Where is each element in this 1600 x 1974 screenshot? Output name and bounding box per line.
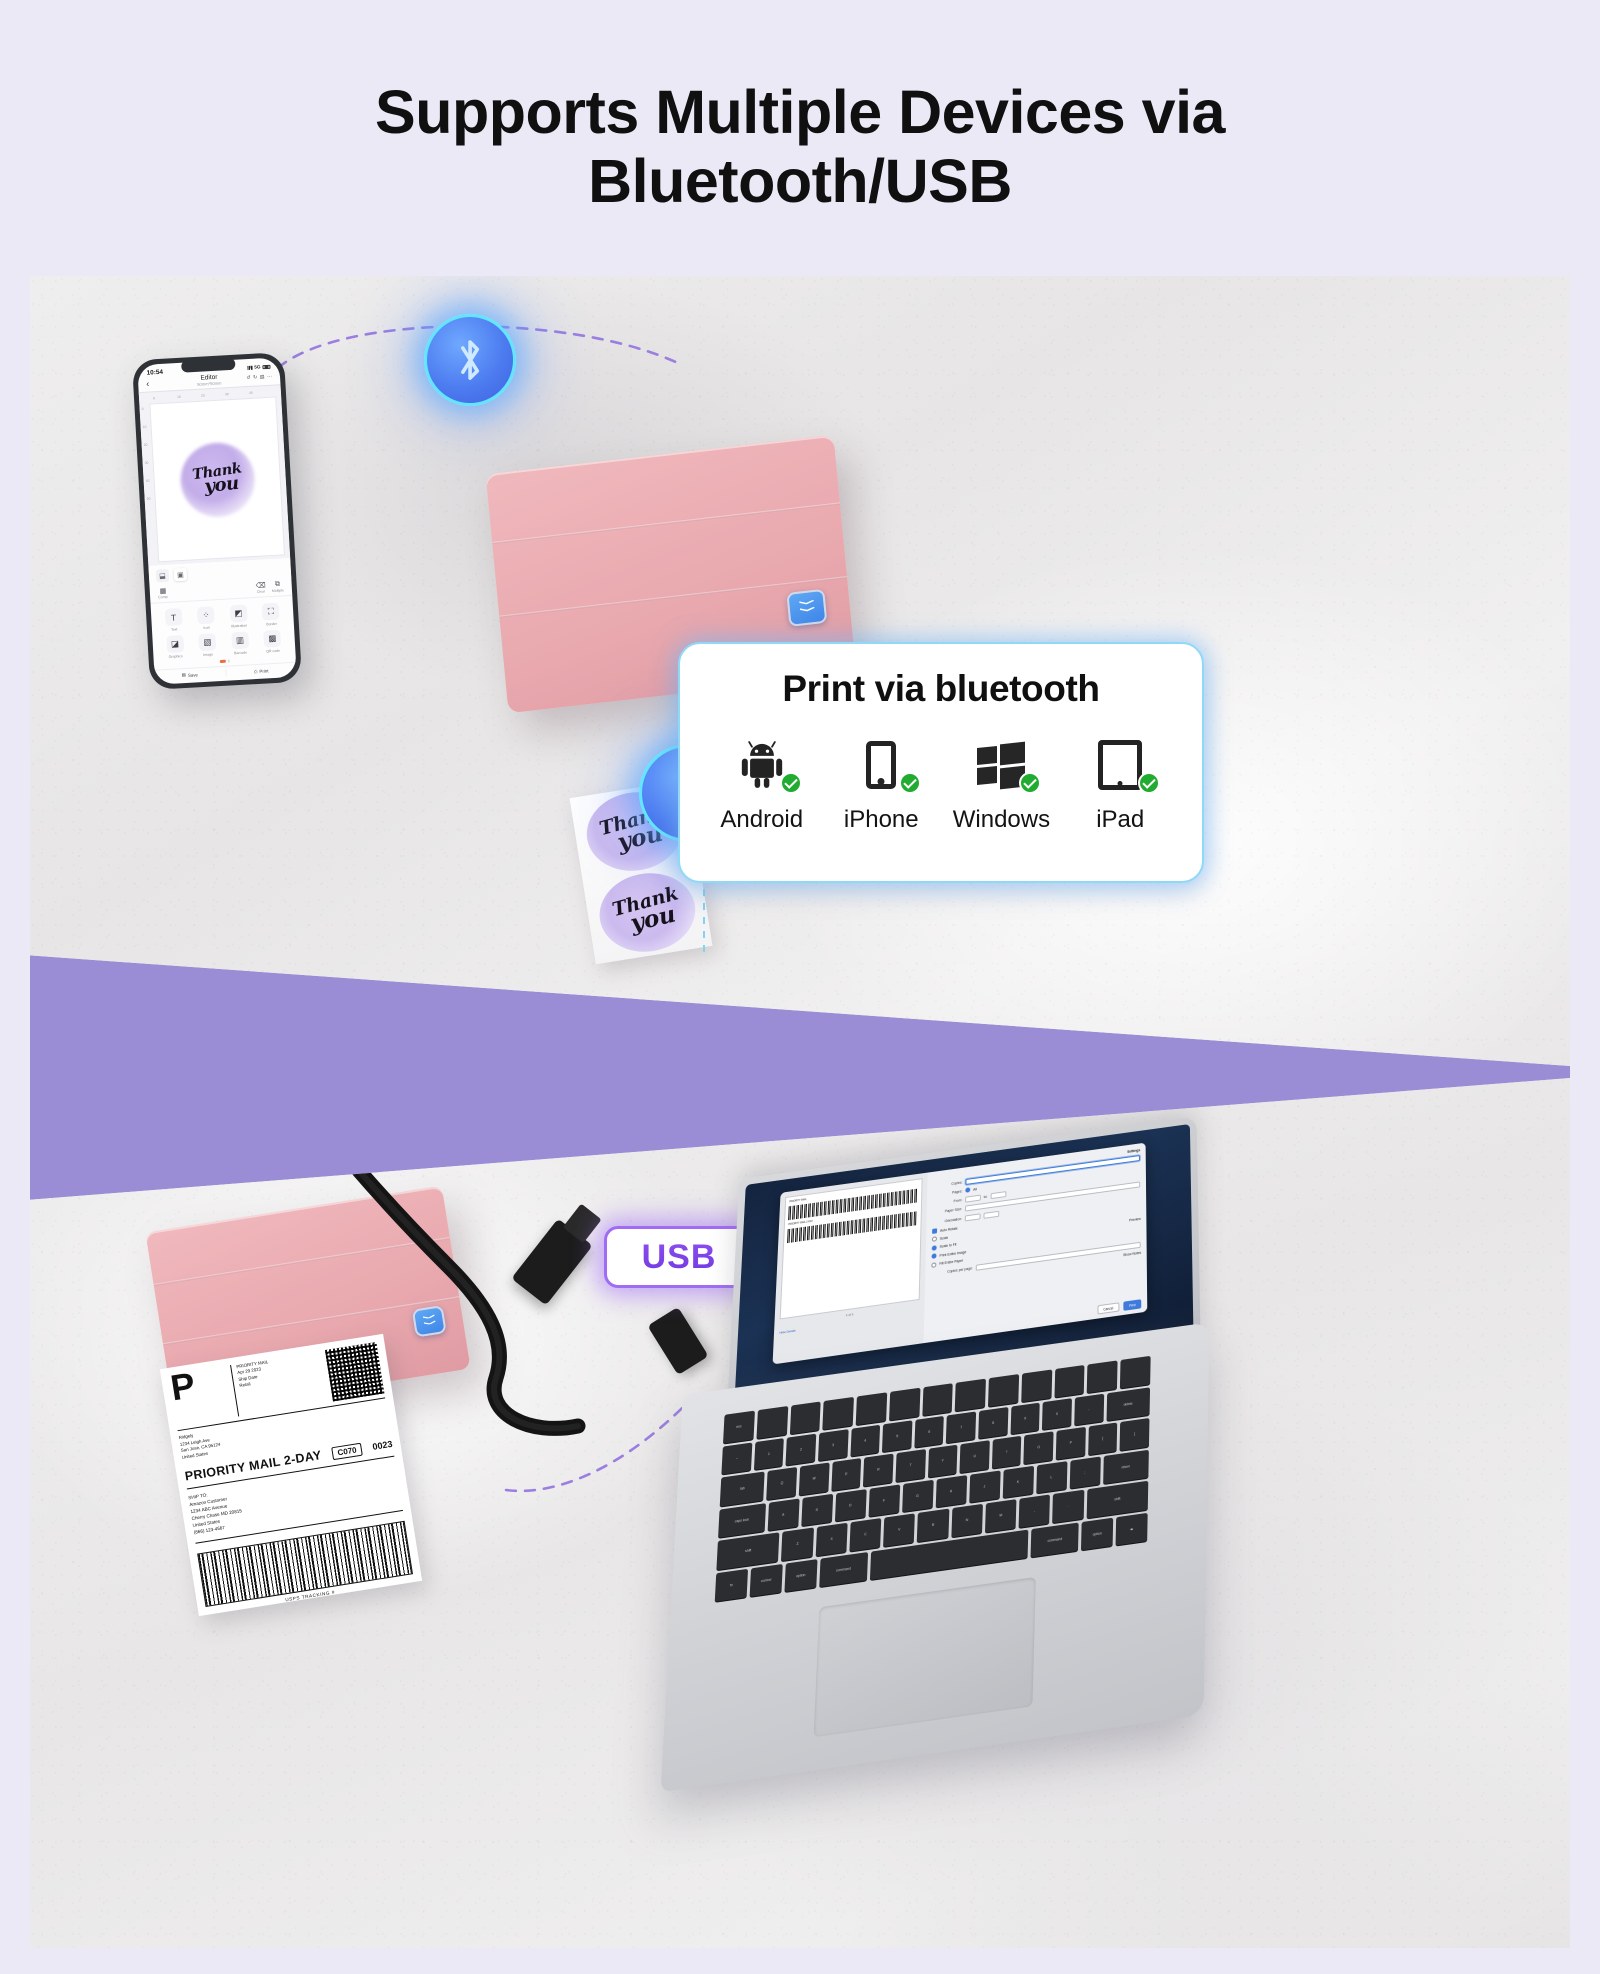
tool-border[interactable]: ⛶ Border: [255, 603, 287, 628]
pages-all-radio[interactable]: [965, 1188, 970, 1194]
key[interactable]: ]: [1120, 1418, 1150, 1450]
bluetooth-icon: [446, 336, 494, 384]
key[interactable]: 2: [786, 1433, 816, 1465]
bluetooth-scene-panel: 10:54 5G ‹ Editor 50mm*50mm ↺: [30, 276, 1570, 1066]
key[interactable]: V: [883, 1513, 915, 1546]
key-command[interactable]: command: [819, 1552, 868, 1588]
tool-text[interactable]: T Text: [158, 608, 190, 633]
copies-label: Copies:: [933, 1181, 962, 1189]
vruler-tick: 30: [145, 461, 149, 465]
from-label: From:: [933, 1198, 963, 1206]
key[interactable]: X: [815, 1523, 847, 1556]
orientation-landscape-button[interactable]: [983, 1210, 999, 1218]
key[interactable]: C: [849, 1518, 881, 1551]
device-label: iPhone: [833, 806, 929, 834]
vruler-tick: 20: [144, 443, 148, 447]
tool-illustration[interactable]: ◩ Illustration: [223, 604, 255, 629]
key[interactable]: [856, 1392, 887, 1424]
key[interactable]: [756, 1406, 788, 1438]
key[interactable]: ,: [1019, 1494, 1051, 1527]
clear-tool[interactable]: ⌫ Clear: [256, 582, 267, 595]
key[interactable]: 9: [1010, 1402, 1040, 1434]
show-notes-label: Show Notes: [1123, 1251, 1141, 1258]
preview-document: PRIORITY MAIL PRIORITY MAIL 2-DAY: [780, 1178, 923, 1319]
print-entire-image-radio[interactable]: [932, 1253, 937, 1259]
key[interactable]: F: [868, 1484, 900, 1517]
paper-size-label: Paper Size:: [933, 1207, 963, 1215]
key-option[interactable]: option: [784, 1559, 817, 1592]
key[interactable]: [922, 1383, 953, 1415]
supported-check-icon: [780, 772, 802, 794]
key-delete[interactable]: delete: [1106, 1387, 1150, 1421]
key[interactable]: W: [799, 1462, 829, 1495]
device-iphone: iPhone: [833, 736, 929, 834]
vruler-tick: 10: [143, 425, 147, 429]
key[interactable]: M: [985, 1499, 1017, 1532]
key[interactable]: Z: [781, 1527, 813, 1560]
multiple-label: Multiple: [272, 589, 284, 594]
laptop-keyboard[interactable]: esc ~1234567890-delete tabQWERTYUIOP[] c…: [715, 1356, 1151, 1602]
smartphone-device: 10:54 5G ‹ Editor 50mm*50mm ↺: [132, 352, 302, 690]
key[interactable]: K: [1002, 1465, 1033, 1498]
tool-label: Image: [193, 652, 224, 658]
key[interactable]: Y: [928, 1445, 958, 1477]
auto-rotate-label: Auto Rotate: [940, 1226, 958, 1232]
save-label: Save: [188, 672, 198, 678]
tool-image[interactable]: ▧ Image: [192, 633, 224, 658]
illustration-icon: ◩: [230, 605, 248, 623]
key[interactable]: T: [895, 1449, 925, 1482]
component-label: Comp.: [158, 595, 169, 600]
key[interactable]: G: [902, 1479, 934, 1512]
tool-icon[interactable]: ⁘ Icon: [190, 606, 222, 631]
printer-icon: ⎙: [254, 668, 258, 673]
key[interactable]: D: [834, 1489, 866, 1522]
supported-check-icon: [1019, 772, 1041, 794]
tool-label: Graphics: [160, 654, 191, 660]
device-label: Windows: [953, 806, 1049, 834]
dialog-actions: Cancel Print: [1097, 1299, 1141, 1315]
macbook-laptop: PRIORITY MAIL PRIORITY MAIL 2-DAY 1 of 1…: [670, 1146, 1230, 1746]
fill-entire-paper-label: Fill Entire Paper: [939, 1259, 963, 1266]
page-title: Supports Multiple Devices via Bluetooth/…: [0, 78, 1600, 216]
device-ipad: iPad: [1072, 736, 1168, 834]
supported-check-icon: [1138, 772, 1160, 794]
card-title: Print via bluetooth: [702, 668, 1180, 710]
laptop-trackpad[interactable]: [814, 1577, 1036, 1737]
crop-icon[interactable]: ⬓: [156, 569, 170, 583]
key[interactable]: 1: [754, 1438, 785, 1470]
key[interactable]: [1087, 1360, 1118, 1392]
print-label: Print: [259, 668, 268, 673]
device-android: Android: [714, 736, 810, 834]
key[interactable]: [955, 1379, 986, 1411]
image-icon: ▧: [199, 634, 217, 652]
key[interactable]: U: [960, 1440, 990, 1472]
tool-label: Illustration: [224, 623, 255, 629]
usb-scene-panel: P PRIORITY MAIL Apr 29 2023 Ship Date Re…: [30, 1078, 1570, 1948]
android-robot-icon: [714, 736, 810, 794]
key-return[interactable]: return: [1103, 1449, 1149, 1484]
laptop-base: esc ~1234567890-delete tabQWERTYUIOP[] c…: [661, 1322, 1210, 1792]
key[interactable]: [823, 1397, 854, 1429]
orientation-portrait-button[interactable]: [965, 1213, 981, 1221]
orientation-label: Orientation:: [932, 1217, 962, 1225]
tool-label: Icon: [191, 625, 222, 631]
dot-active: [220, 660, 226, 663]
barcode-icon: ▥: [231, 632, 249, 650]
key[interactable]: R: [863, 1454, 893, 1487]
text-icon: T: [165, 608, 183, 626]
print-button[interactable]: ⎙ Print: [226, 666, 297, 676]
key[interactable]: 7: [946, 1411, 976, 1443]
battery-icon: [262, 364, 270, 368]
to-label: to:: [984, 1195, 988, 1199]
tool-qrcode[interactable]: ▩ QR code: [257, 630, 289, 655]
graphics-icon: ◪: [166, 635, 184, 653]
component-tool[interactable]: ▦ Comp.: [158, 587, 169, 600]
key-command-right[interactable]: command: [1031, 1522, 1079, 1557]
cancel-button[interactable]: Cancel: [1097, 1302, 1119, 1314]
key[interactable]: 6: [914, 1415, 944, 1447]
tool-label: Border: [256, 622, 287, 628]
page-title-line-2: Bluetooth/USB: [588, 147, 1012, 215]
key[interactable]: S: [801, 1493, 833, 1526]
canvas-thank-you-artwork: Thank you: [192, 463, 243, 496]
key[interactable]: [1054, 1365, 1085, 1397]
key[interactable]: L: [1036, 1461, 1067, 1494]
scale-label: Scale: [940, 1236, 948, 1241]
scale-to-fit-label: Scale to Fit: [940, 1243, 957, 1249]
key[interactable]: I: [992, 1436, 1022, 1468]
key[interactable]: H: [935, 1475, 967, 1508]
key[interactable]: A: [767, 1498, 799, 1531]
key[interactable]: 4: [850, 1424, 880, 1456]
key[interactable]: 5: [882, 1420, 912, 1452]
tool-barcode[interactable]: ▥ Barcode: [224, 631, 256, 656]
key[interactable]: [: [1088, 1422, 1118, 1454]
page-header: Supports Multiple Devices via Bluetooth/…: [0, 0, 1600, 216]
scale-to-fit-radio[interactable]: [932, 1245, 937, 1251]
key-fn[interactable]: fn: [715, 1568, 748, 1601]
pages-all-label: All: [973, 1187, 977, 1191]
key[interactable]: 3: [818, 1429, 848, 1461]
iphone-icon: [833, 736, 929, 794]
key[interactable]: 8: [978, 1407, 1008, 1439]
dot-inactive: [228, 660, 230, 662]
key[interactable]: [988, 1374, 1019, 1406]
key[interactable]: -: [1074, 1393, 1104, 1425]
print-settings-pane: Settings Copies: Pages: All: [924, 1143, 1148, 1344]
from-input[interactable]: [965, 1194, 981, 1202]
phone-canvas-row: 0 10 20 30 40 50 Thank you: [139, 393, 290, 566]
ipad-icon: [1072, 736, 1168, 794]
key-control[interactable]: control: [750, 1563, 783, 1596]
key-option-right[interactable]: option: [1081, 1517, 1113, 1550]
key[interactable]: ~: [721, 1442, 752, 1474]
key[interactable]: esc: [723, 1411, 755, 1443]
key-capslock[interactable]: caps lock: [718, 1503, 765, 1538]
tool-label: Barcode: [225, 650, 256, 656]
key[interactable]: N: [951, 1504, 983, 1537]
status-time: 10:54: [146, 369, 163, 377]
pages-label: Pages:: [933, 1189, 962, 1197]
key[interactable]: P: [1056, 1427, 1086, 1459]
signal-icon: [247, 365, 252, 369]
phone-tool-grid: T Text ⁘ Icon ◩ Illustration ⛶ Border: [151, 596, 296, 662]
print-button[interactable]: Print: [1123, 1299, 1142, 1311]
key-shift-right[interactable]: shift: [1086, 1481, 1148, 1518]
device-windows: Windows: [953, 736, 1049, 834]
device-label: iPad: [1072, 806, 1168, 834]
vruler-tick: 0: [142, 407, 144, 411]
key[interactable]: .: [1052, 1490, 1083, 1523]
windows-logo-icon: [953, 736, 1049, 794]
key[interactable]: O: [1024, 1431, 1054, 1463]
tool-label: Text: [159, 627, 190, 633]
key[interactable]: E: [831, 1458, 861, 1491]
preview-label: Preview: [1129, 1217, 1141, 1223]
key[interactable]: [1120, 1356, 1151, 1388]
border-icon: ⛶: [262, 603, 280, 621]
print-preview-pane: PRIORITY MAIL PRIORITY MAIL 2-DAY 1 of 1…: [773, 1173, 928, 1365]
qrcode-icon: ▩: [263, 630, 281, 648]
key-tab[interactable]: tab: [720, 1471, 765, 1506]
multiple-tool[interactable]: ⧉ Multiple: [271, 581, 284, 594]
image-frame-icon[interactable]: ▣: [174, 568, 188, 582]
key[interactable]: 0: [1042, 1398, 1072, 1430]
key[interactable]: J: [969, 1470, 1000, 1503]
print-entire-image-label: Print Entire Image: [939, 1250, 966, 1258]
save-button[interactable]: ▤ Save: [154, 670, 226, 680]
print-dialog: PRIORITY MAIL PRIORITY MAIL 2-DAY 1 of 1…: [773, 1143, 1148, 1365]
key-arrows[interactable]: ◂▸: [1116, 1512, 1148, 1545]
print-via-bluetooth-card: Print via bluetooth: [678, 642, 1204, 883]
key[interactable]: Q: [767, 1467, 798, 1500]
fill-entire-paper-radio[interactable]: [931, 1262, 936, 1268]
printer-feed-button[interactable]: [786, 589, 827, 627]
device-label: Android: [714, 806, 810, 834]
page-title-line-1: Supports Multiple Devices via: [375, 78, 1225, 146]
vruler-tick: 40: [146, 479, 150, 483]
scale-radio[interactable]: [932, 1237, 937, 1243]
clear-label: Clear: [257, 590, 266, 594]
tool-label: QR code: [258, 649, 289, 655]
supported-devices-row: Android iPhone Windows: [702, 736, 1180, 834]
phone-screen: 10:54 5G ‹ Editor 50mm*50mm ↺: [137, 357, 297, 684]
auto-rotate-checkbox[interactable]: [932, 1228, 937, 1234]
key[interactable]: ;: [1069, 1456, 1100, 1489]
key[interactable]: [789, 1401, 820, 1433]
tool-graphics[interactable]: ◪ Graphics: [159, 635, 191, 660]
save-icon: ▤: [182, 672, 186, 678]
icon-grid-icon: ⁘: [197, 607, 215, 625]
key[interactable]: [1021, 1369, 1052, 1401]
to-input[interactable]: [990, 1191, 1006, 1199]
artwork-line-2: you: [196, 475, 247, 497]
image-frame: 10:54 5G ‹ Editor 50mm*50mm ↺: [30, 276, 1570, 1948]
label-big-letter: P: [169, 1365, 238, 1426]
key[interactable]: [889, 1388, 920, 1420]
key[interactable]: B: [917, 1509, 949, 1542]
network-label: 5G: [254, 364, 260, 369]
label-canvas[interactable]: Thank you: [149, 397, 285, 563]
double-chevron-down-icon: [799, 600, 815, 617]
supported-check-icon: [899, 772, 921, 794]
vruler-tick: 50: [147, 497, 151, 501]
bluetooth-badge-top: [424, 314, 516, 406]
